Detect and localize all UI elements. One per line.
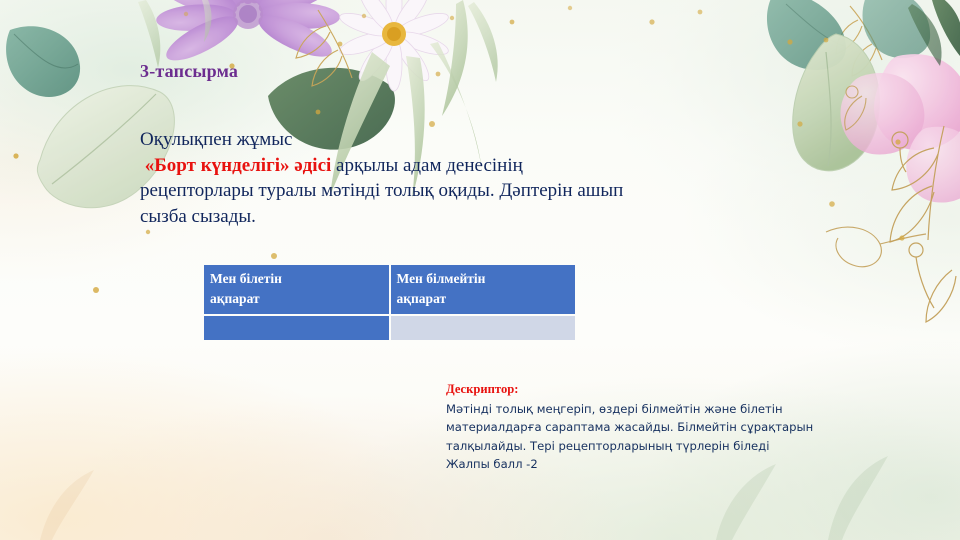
table-cell-unknown-answer[interactable] [391, 316, 576, 340]
page-title: 3-тапсырма [140, 61, 238, 82]
kwl-table: Мен білетін ақпарат Мен білмейтін ақпара… [202, 263, 577, 342]
descriptor-block: Дескриптор: Мәтінді толық меңгеріп, өзде… [446, 380, 916, 474]
table-header-unknown: Мен білмейтін ақпарат [391, 265, 576, 314]
body-line-1: Оқулықпен жұмыс [140, 129, 292, 150]
table-cell-known-answer[interactable] [204, 316, 389, 340]
descriptor-body: Мәтінді толық меңгеріп, өздері білмейтін… [446, 400, 916, 474]
body-after-accent: арқылы адам денесінің [331, 155, 522, 176]
body-line-4: сызба сызады. [140, 206, 256, 227]
body-line-3: рецепторлары туралы мәтінді толық оқиды.… [140, 180, 623, 201]
table-header-row: Мен білетін ақпарат Мен білмейтін ақпара… [204, 265, 575, 314]
body-accent-phrase: «Борт күнделігі» әдісі [140, 155, 331, 176]
table-header-known: Мен білетін ақпарат [204, 265, 389, 314]
slide-canvas: 3-тапсырма Оқулықпен жұмыс «Борт күнделі… [0, 0, 960, 540]
body-paragraph: Оқулықпен жұмыс «Борт күнделігі» әдісі а… [140, 127, 800, 229]
table-row [204, 316, 575, 340]
descriptor-label: Дескриптор: [446, 382, 518, 396]
